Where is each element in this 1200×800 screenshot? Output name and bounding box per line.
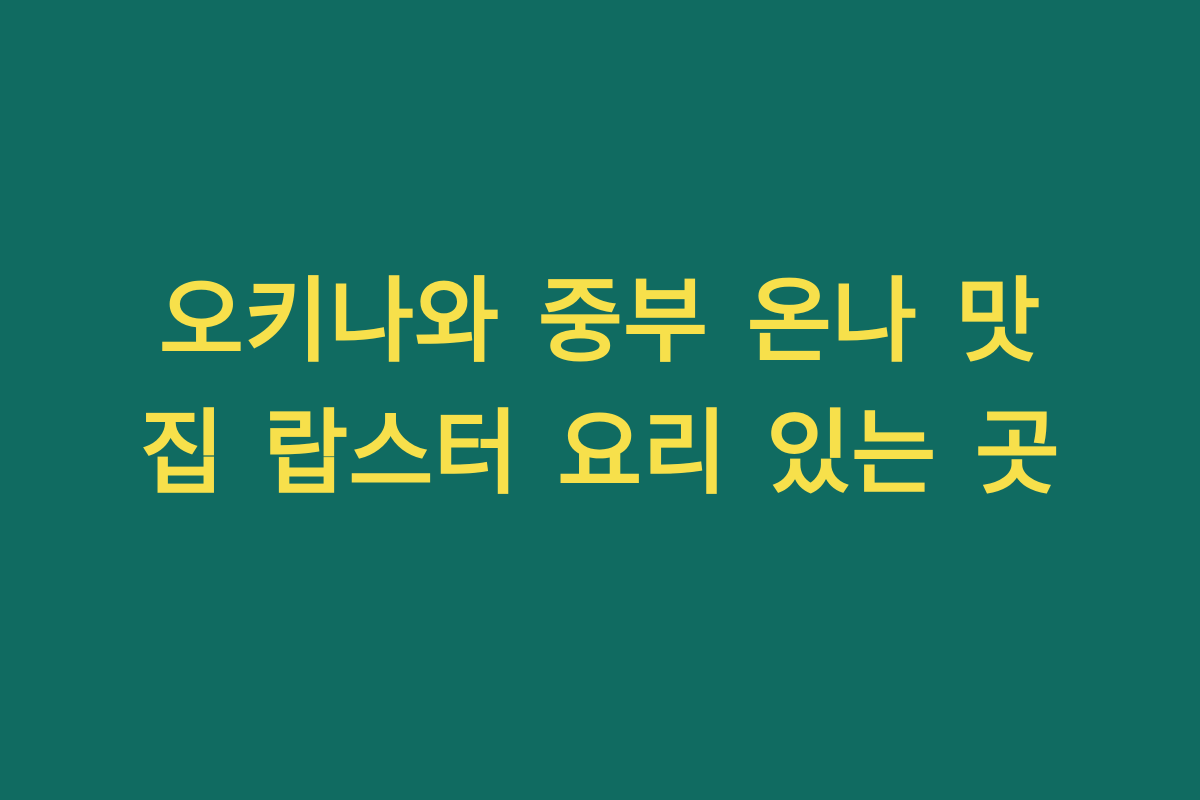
headline-line-2: 집 랍스터 요리 있는 곳	[110, 388, 1090, 520]
headline-line-1: 오키나와 중부 온나 맛	[110, 256, 1090, 388]
page-title: 오키나와 중부 온나 맛 집 랍스터 요리 있는 곳	[110, 256, 1090, 521]
banner-canvas: 오키나와 중부 온나 맛 집 랍스터 요리 있는 곳	[0, 0, 1200, 800]
